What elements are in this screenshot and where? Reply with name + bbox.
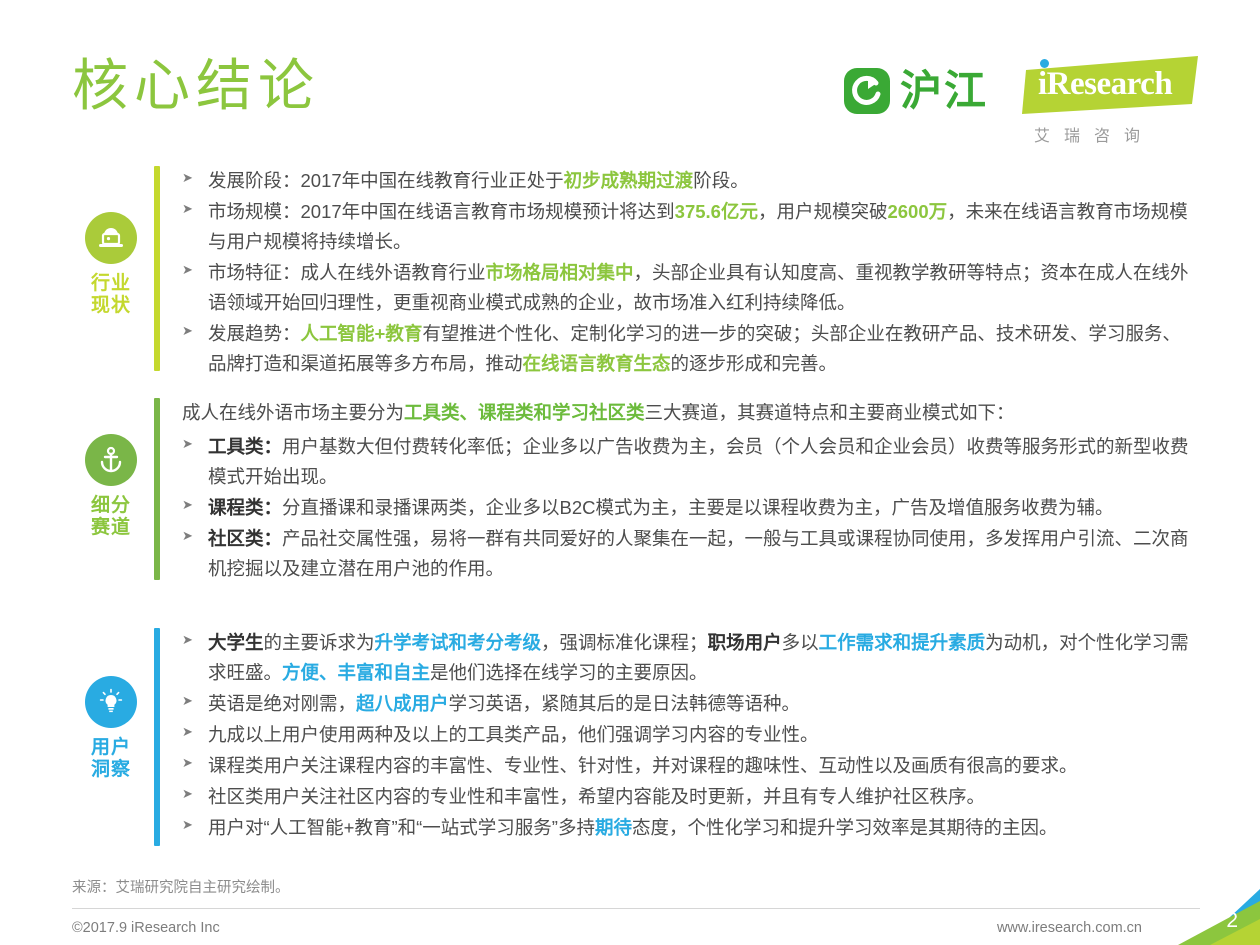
laptop-cloud-icon: [85, 212, 137, 264]
section-track-label: 细分 赛道: [91, 495, 131, 539]
iresearch-band: iResearch: [1022, 56, 1198, 114]
text-run: 态度，个性化学习和提升学习效率是其期待的主因。: [632, 817, 1058, 838]
hujiang-wordmark: 沪江: [900, 70, 988, 112]
section-industry-status: 行业 现状 发展阶段：2017年中国在线教育行业正处于初步成熟期过渡阶段。市场规…: [72, 166, 1192, 380]
section-user-insights: 用户 洞察 大学生的主要诉求为升学考试和考分考级，强调标准化课程；职场用户多以工…: [72, 628, 1192, 846]
text-run: 在线语言教育生态: [523, 353, 671, 374]
bullet-item: 市场特征：成人在线外语教育行业市场格局相对集中，头部企业具有认知度高、重视教学教…: [182, 258, 1192, 318]
text-run: 工具类：: [208, 436, 282, 457]
text-run: 多以: [782, 632, 819, 653]
section-industry-label-line1: 行业: [91, 273, 131, 295]
text-run: 发展阶段：2017年中国在线教育行业正处于: [208, 170, 564, 191]
section-user-body: 大学生的主要诉求为升学考试和考分考级，强调标准化课程；职场用户多以工作需求和提升…: [160, 628, 1192, 846]
section-industry-body: 发展阶段：2017年中国在线教育行业正处于初步成熟期过渡阶段。市场规模：2017…: [160, 166, 1192, 380]
text-run: 职场用户: [708, 632, 782, 653]
text-run: 课程类用户关注课程内容的丰富性、专业性、针对性，并对课程的趣味性、互动性以及画质…: [208, 755, 1078, 776]
text-run: 超八成用户: [356, 693, 449, 714]
bullet-item: 大学生的主要诉求为升学考试和考分考级，强调标准化课程；职场用户多以工作需求和提升…: [182, 628, 1192, 688]
text-run: 初步成熟期过渡: [564, 170, 694, 191]
text-run: 2600万: [887, 201, 947, 222]
text-run: 产品社交属性强，易将一群有共同爱好的人聚集在一起，一般与工具或课程协同使用，多发…: [208, 528, 1189, 579]
text-run: 375.6亿元: [675, 201, 758, 222]
hujiang-mark-icon: [844, 68, 890, 114]
section-track-icon-group: 细分 赛道: [72, 398, 150, 585]
section-user-label-line2: 洞察: [91, 759, 131, 781]
text-run: 发展趋势：: [208, 323, 301, 344]
anchor-icon: [85, 434, 137, 486]
section-industry-icon-group: 行业 现状: [72, 166, 150, 380]
bullet-item: 英语是绝对刚需，超八成用户学习英语，紧随其后的是日法韩德等语种。: [182, 689, 1192, 719]
text-run: 三大赛道，其赛道特点和主要商业模式如下：: [645, 402, 1015, 423]
section-track-label-line1: 细分: [91, 495, 131, 517]
logo-group: 沪江 iResearch 艾瑞咨询: [844, 56, 1198, 146]
section-user-label-line1: 用户: [91, 737, 131, 759]
bullet-item: 社区类：产品社交属性强，易将一群有共同爱好的人聚集在一起，一般与工具或课程协同使…: [182, 524, 1192, 584]
iresearch-wordmark: iResearch: [1038, 66, 1172, 103]
text-run: 用户对“人工智能+教育”和“一站式学习服务”多持: [208, 817, 595, 838]
text-run: 社区类用户关注社区内容的专业性和丰富性，希望内容能及时更新，并且有专人维护社区秩…: [208, 786, 985, 807]
text-run: 的逐步形成和完善。: [671, 353, 838, 374]
text-run: 人工智能+教育: [301, 323, 423, 344]
bullet-item: 社区类用户关注社区内容的专业性和丰富性，希望内容能及时更新，并且有专人维护社区秩…: [182, 782, 1192, 812]
bullet-item: 市场规模：2017年中国在线语言教育市场规模预计将达到375.6亿元，用户规模突…: [182, 197, 1192, 257]
corner-decoration: [1148, 885, 1260, 945]
lightbulb-icon: [85, 676, 137, 728]
section-track-label-line2: 赛道: [91, 517, 131, 539]
bullet-item: 工具类：用户基数大但付费转化率低；企业多以广告收费为主，会员（个人会员和企业会员…: [182, 432, 1192, 492]
section-track-bullet-list: 工具类：用户基数大但付费转化率低；企业多以广告收费为主，会员（个人会员和企业会员…: [182, 432, 1192, 584]
text-run: 是他们选择在线学习的主要原因。: [430, 662, 708, 683]
text-run: 工具类、课程类和学习社区类: [404, 402, 645, 423]
section-industry-label-line2: 现状: [91, 295, 131, 317]
section-user-icon-group: 用户 洞察: [72, 628, 150, 846]
bullet-item: 九成以上用户使用两种及以上的工具类产品，他们强调学习内容的专业性。: [182, 720, 1192, 750]
text-run: 九成以上用户使用两种及以上的工具类产品，他们强调学习内容的专业性。: [208, 724, 819, 745]
source-note: 来源：艾瑞研究院自主研究绘制。: [72, 876, 290, 897]
text-run: 英语是绝对刚需，: [208, 693, 356, 714]
copyright-text: ©2017.9 iResearch Inc: [72, 920, 220, 936]
text-run: 大学生: [208, 632, 264, 653]
text-run: 用户基数大但付费转化率低；企业多以广告收费为主，会员（个人会员和企业会员）收费等…: [208, 436, 1189, 487]
bullet-item: 课程类：分直播课和录播课两类，企业多以B2C模式为主，主要是以课程收费为主，广告…: [182, 493, 1192, 523]
text-run: 升学考试和考分考级: [375, 632, 542, 653]
text-run: 市场格局相对集中: [486, 262, 634, 283]
iresearch-subtitle: 艾瑞咨询: [1022, 122, 1198, 146]
slide: 核心结论 沪江 iResearch 艾瑞咨询: [0, 0, 1260, 945]
bullet-item: 用户对“人工智能+教育”和“一站式学习服务”多持期待态度，个性化学习和提升学习效…: [182, 813, 1192, 843]
section-track-lead: 成人在线外语市场主要分为工具类、课程类和学习社区类三大赛道，其赛道特点和主要商业…: [182, 398, 1192, 428]
text-run: 学习英语，紧随其后的是日法韩德等语种。: [449, 693, 801, 714]
page-title: 核心结论: [72, 52, 320, 119]
text-run: 社区类：: [208, 528, 282, 549]
website-link[interactable]: www.iresearch.com.cn: [997, 920, 1142, 936]
text-run: 市场规模：2017年中国在线语言教育市场规模预计将达到: [208, 201, 675, 222]
text-run: 课程类：: [208, 497, 282, 518]
text-run: ，用户规模突破: [758, 201, 888, 222]
section-user-label: 用户 洞察: [91, 737, 131, 781]
bullet-item: 发展阶段：2017年中国在线教育行业正处于初步成熟期过渡阶段。: [182, 166, 1192, 196]
text-run: 的主要诉求为: [264, 632, 375, 653]
section-user-bullet-list: 大学生的主要诉求为升学考试和考分考级，强调标准化课程；职场用户多以工作需求和提升…: [182, 628, 1192, 843]
section-industry-bullet-list: 发展阶段：2017年中国在线教育行业正处于初步成熟期过渡阶段。市场规模：2017…: [182, 166, 1192, 379]
bullet-item: 课程类用户关注课程内容的丰富性、专业性、针对性，并对课程的趣味性、互动性以及画质…: [182, 751, 1192, 781]
text-run: 成人在线外语市场主要分为: [182, 402, 404, 423]
text-run: 阶段。: [693, 170, 749, 191]
bullet-item: 发展趋势：人工智能+教育有望推进个性化、定制化学习的进一步的突破；头部企业在教研…: [182, 319, 1192, 379]
text-run: ，强调标准化课程；: [541, 632, 708, 653]
text-run: 市场特征：成人在线外语教育行业: [208, 262, 486, 283]
text-run: 方便、丰富和自主: [282, 662, 430, 683]
text-run: 分直播课和录播课两类，企业多以B2C模式为主，主要是以课程收费为主，广告及增值服…: [282, 497, 1114, 518]
section-industry-label: 行业 现状: [91, 273, 131, 317]
section-track-body: 成人在线外语市场主要分为工具类、课程类和学习社区类三大赛道，其赛道特点和主要商业…: [160, 398, 1192, 585]
footer-divider: [72, 908, 1200, 909]
iresearch-logo: iResearch 艾瑞咨询: [1022, 56, 1198, 146]
text-run: 工作需求和提升素质: [819, 632, 986, 653]
section-segment-tracks: 细分 赛道 成人在线外语市场主要分为工具类、课程类和学习社区类三大赛道，其赛道特…: [72, 398, 1192, 585]
text-run: 期待: [595, 817, 632, 838]
hujiang-logo: 沪江: [844, 68, 988, 114]
page-number: 2: [1226, 909, 1238, 933]
